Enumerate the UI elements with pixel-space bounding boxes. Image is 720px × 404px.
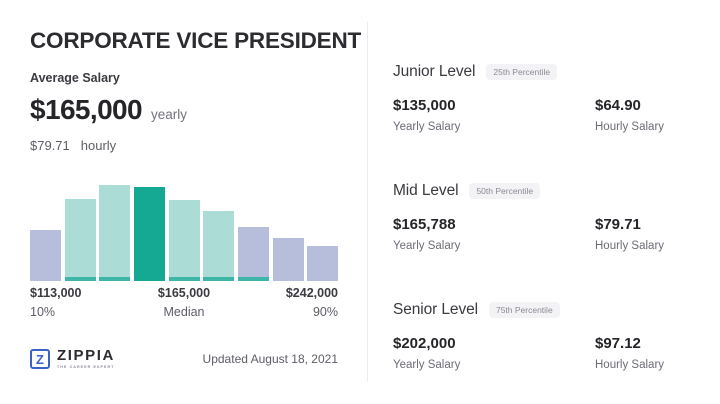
hourly-salary-label: Hourly Salary	[595, 239, 664, 253]
axis-low-value: $113,000	[30, 286, 81, 300]
level-section-junior: Junior Level 25th Percentile $135,000 Ye…	[393, 62, 703, 137]
level-name: Senior Level	[393, 301, 478, 319]
chart-bar	[238, 227, 269, 281]
zippia-z-glyph: Z	[36, 353, 44, 366]
zippia-z-icon: Z	[30, 349, 50, 369]
chart-bar-base-accent	[169, 277, 200, 281]
axis-mid-label: Median	[164, 305, 205, 319]
level-header: Mid Level 50th Percentile	[393, 181, 703, 201]
yearly-salary-amount: $202,000	[393, 335, 460, 353]
percentile-badge: 50th Percentile	[469, 183, 540, 199]
hourly-salary-amount: $79.71	[595, 216, 664, 234]
yearly-salary-amount: $135,000	[393, 97, 460, 115]
chart-bar	[273, 238, 304, 281]
level-figures: $165,788 Yearly Salary $79.71 Hourly Sal…	[393, 216, 703, 256]
card-footer: Z ZIPPIA THE CAREER EXPERT Updated Augus…	[30, 348, 338, 378]
chart-bar-base-accent	[203, 277, 234, 281]
chart-bar-base-accent	[238, 277, 269, 281]
average-hourly-unit: hourly	[81, 138, 116, 153]
zippia-name: ZIPPIA	[57, 348, 115, 363]
hourly-salary-amount: $64.90	[595, 97, 664, 115]
yearly-salary-figure: $202,000 Yearly Salary	[393, 335, 460, 372]
axis-mid-value: $165,000	[158, 286, 210, 300]
zippia-tagline: THE CAREER EXPERT	[57, 364, 115, 370]
zippia-logo[interactable]: Z ZIPPIA THE CAREER EXPERT	[30, 348, 115, 370]
chart-bar	[307, 246, 338, 281]
hourly-salary-figure: $97.12 Hourly Salary	[595, 335, 664, 372]
chart-axis-labels: $113,000 $165,000 $242,000 10% Median 90…	[30, 286, 338, 322]
yearly-salary-label: Yearly Salary	[393, 120, 460, 134]
levels-panel: Junior Level 25th Percentile $135,000 Ye…	[368, 0, 720, 404]
chart-bar	[65, 199, 96, 281]
yearly-salary-label: Yearly Salary	[393, 239, 460, 253]
level-name: Mid Level	[393, 182, 458, 200]
level-section-mid: Mid Level 50th Percentile $165,788 Yearl…	[393, 181, 703, 256]
hourly-salary-label: Hourly Salary	[595, 358, 664, 372]
level-name: Junior Level	[393, 63, 475, 81]
hourly-salary-figure: $64.90 Hourly Salary	[595, 97, 664, 134]
percentile-badge: 75th Percentile	[489, 302, 560, 318]
axis-high-label: 90%	[313, 305, 338, 319]
percentile-badge: 25th Percentile	[486, 64, 557, 80]
axis-low-label: 10%	[30, 305, 55, 319]
hourly-salary-figure: $79.71 Hourly Salary	[595, 216, 664, 253]
chart-bar	[99, 185, 130, 281]
chart-bar-median	[134, 187, 165, 281]
hourly-salary-amount: $97.12	[595, 335, 664, 353]
zippia-wordmark: ZIPPIA THE CAREER EXPERT	[57, 348, 115, 370]
yearly-salary-figure: $135,000 Yearly Salary	[393, 97, 460, 134]
yearly-salary-amount: $165,788	[393, 216, 460, 234]
axis-high-value: $242,000	[286, 286, 338, 300]
chart-bar-base-accent	[99, 277, 130, 281]
average-salary-label: Average Salary	[30, 71, 120, 85]
chart-bar	[30, 230, 61, 281]
yearly-salary-figure: $165,788 Yearly Salary	[393, 216, 460, 253]
average-yearly-row: $165,000 yearly	[30, 94, 187, 126]
chart-bar	[169, 200, 200, 281]
chart-bars	[30, 168, 338, 281]
level-section-senior: Senior Level 75th Percentile $202,000 Ye…	[393, 300, 703, 375]
average-yearly-unit: yearly	[151, 107, 187, 122]
level-figures: $135,000 Yearly Salary $64.90 Hourly Sal…	[393, 97, 703, 137]
average-hourly-row: $79.71 hourly	[30, 138, 116, 153]
level-header: Junior Level 25th Percentile	[393, 62, 703, 82]
chart-bar	[203, 211, 234, 281]
level-figures: $202,000 Yearly Salary $97.12 Hourly Sal…	[393, 335, 703, 375]
average-yearly-amount: $165,000	[30, 94, 142, 126]
level-header: Senior Level 75th Percentile	[393, 300, 703, 320]
updated-timestamp: Updated August 18, 2021	[203, 352, 338, 366]
average-hourly-amount: $79.71	[30, 138, 70, 153]
hourly-salary-label: Hourly Salary	[595, 120, 664, 134]
salary-distribution-chart	[30, 168, 338, 281]
yearly-salary-label: Yearly Salary	[393, 358, 460, 372]
page-title: CORPORATE VICE PRESIDENT	[30, 28, 361, 54]
salary-card: CORPORATE VICE PRESIDENT Average Salary …	[0, 0, 720, 404]
salary-summary-panel: CORPORATE VICE PRESIDENT Average Salary …	[0, 0, 367, 404]
chart-bar-base-accent	[65, 277, 96, 281]
